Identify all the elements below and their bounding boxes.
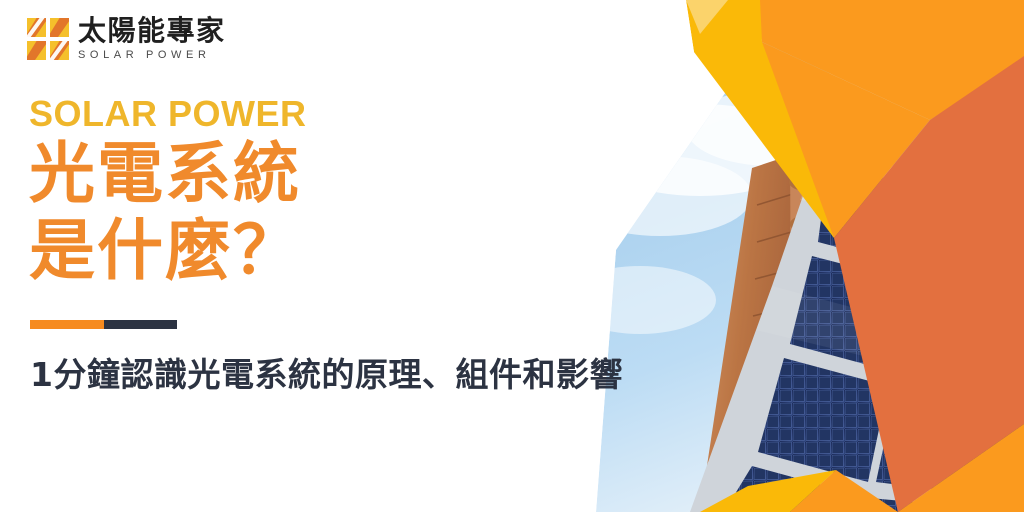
subtitle-text: 1分鐘認識光電系統的原理、組件和影響 (30, 358, 623, 391)
divider-segment-orange (30, 320, 104, 329)
brand-name-en: SOLAR POWER (78, 50, 226, 61)
brand-name-cn: 太陽能專家 (78, 17, 226, 45)
solar-panel-quadrant-logo-icon (27, 18, 69, 60)
headline-line-1: 光電系統 (29, 138, 623, 209)
headline-line-2: 是什麼？ (29, 215, 623, 286)
headline-block: SOLAR POWER 光電系統 是什麼？ 1分鐘認識光電系統的原理、組件和影響 (29, 96, 623, 391)
divider-segment-navy (104, 320, 178, 329)
brand-logo[interactable]: 太陽能專家 SOLAR POWER (27, 17, 226, 61)
promo-banner: 太陽能專家 SOLAR POWER SOLAR POWER 光電系統 是什麼？ … (0, 0, 1024, 512)
eyebrow-text: SOLAR POWER (29, 96, 623, 132)
divider-rule (30, 320, 177, 329)
